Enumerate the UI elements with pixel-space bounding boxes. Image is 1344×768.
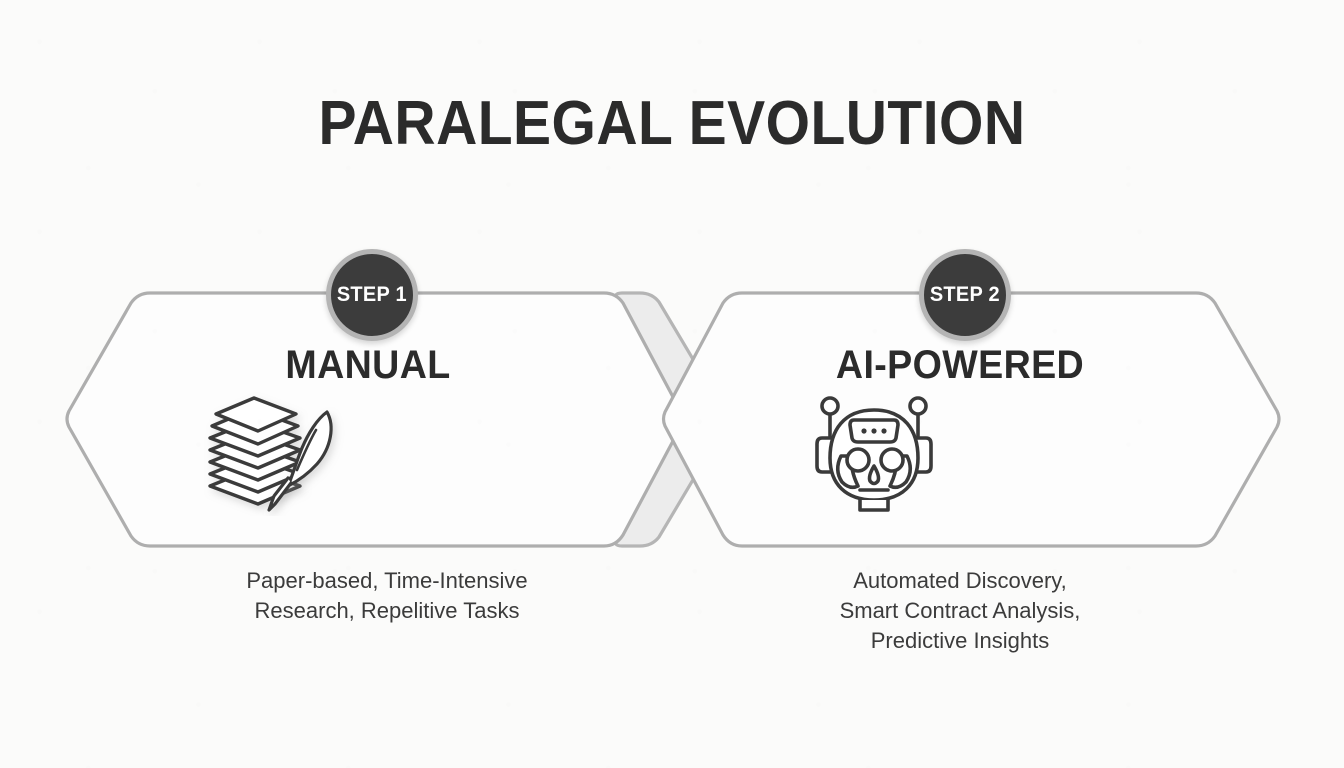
infographic-canvas: PARALEGAL EVOLUTION STEP 1 MANUAL: [0, 0, 1344, 768]
step-badge-1-label: STEP 1: [337, 283, 407, 307]
paper-stack-quill-icon: [196, 386, 346, 516]
stage-title-ai-powered: AI-POWERED: [753, 342, 1167, 388]
caption-line: Predictive Insights: [720, 626, 1200, 656]
page-title: PARALEGAL EVOLUTION: [54, 88, 1290, 160]
caption-line: Paper-based, Time-Intensive: [148, 566, 626, 596]
stage-caption-ai-powered: Automated Discovery, Smart Contract Anal…: [720, 566, 1200, 656]
caption-line: Automated Discovery,: [720, 566, 1200, 596]
step-badge-1[interactable]: STEP 1: [326, 249, 418, 341]
step-badge-2-label: STEP 2: [930, 283, 1000, 307]
caption-line: Research, Repelitive Tasks: [148, 596, 626, 626]
caption-line: Smart Contract Analysis,: [720, 596, 1200, 626]
forehead-indicator-dots: [861, 428, 886, 433]
stage-caption-manual: Paper-based, Time-Intensive Research, Re…: [148, 566, 626, 626]
step-badge-2[interactable]: STEP 2: [919, 249, 1011, 341]
robot-head-icon: [800, 386, 948, 518]
stage-title-manual: MANUAL: [161, 342, 575, 388]
